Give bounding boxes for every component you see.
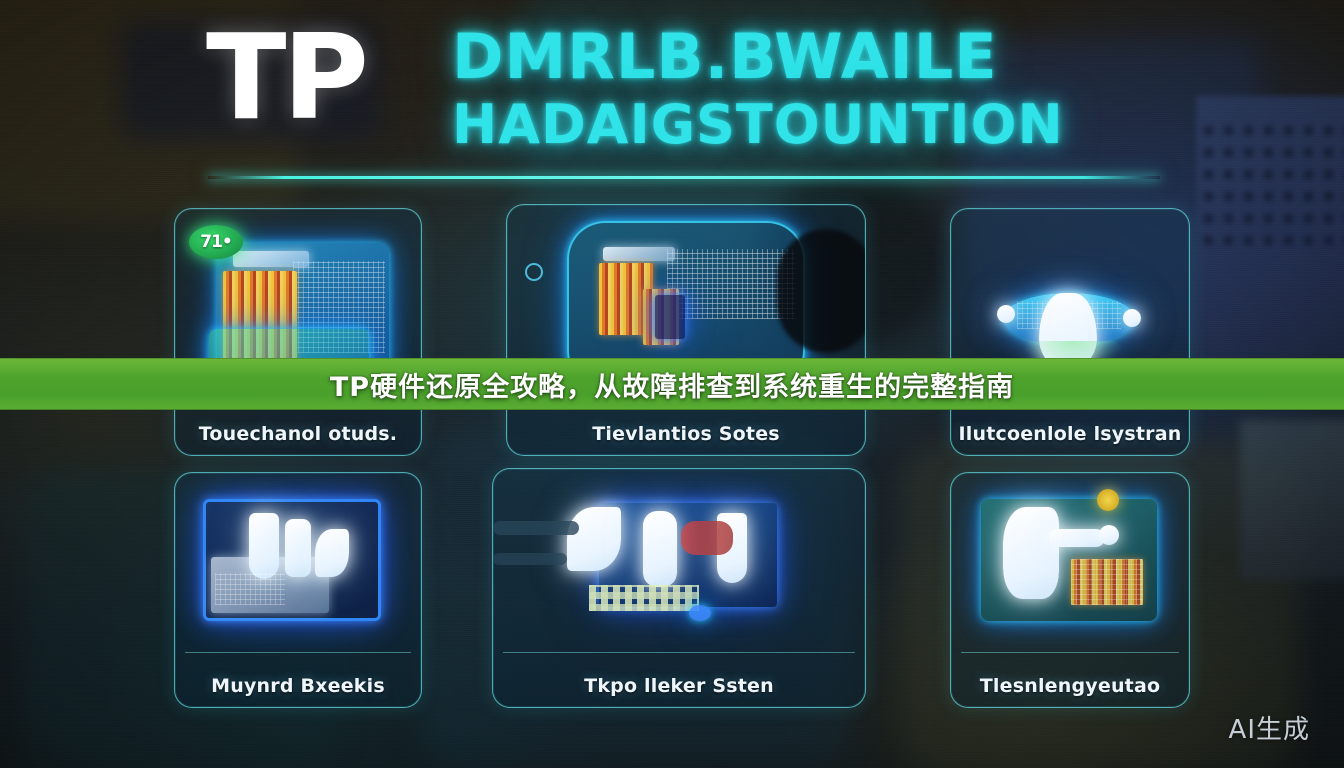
card-caption: Touechanol otuds.	[175, 423, 421, 445]
title-block: DMRLB.BWAILE HADAIGSTOUNTION	[452, 26, 1064, 152]
caption-divider	[503, 652, 855, 653]
caption-divider	[961, 652, 1179, 653]
neon-motherboard-thumbnail	[175, 473, 421, 651]
headline-banner: TP硬件还原全攻略，从故障排查到系统重生的完整指南	[0, 358, 1344, 410]
title-line-2: HADAIGSTOUNTION	[452, 98, 1064, 152]
card-caption: Tievlantios Sotes	[507, 423, 865, 445]
logo-text: TP	[206, 18, 365, 136]
ai-generated-watermark: AI生成	[1229, 709, 1310, 746]
card-grid: 71• Touechanol otuds.	[168, 200, 1192, 720]
caption-divider	[185, 652, 411, 653]
card-caption: Tlesnlengyeutao	[951, 675, 1189, 697]
card-caption: Tkpo lleker Ssten	[493, 675, 865, 697]
card-ilutcoenlole-lsystran[interactable]: Ilutcoenlole lsystran	[950, 208, 1190, 456]
status-badge-label: 71•	[200, 232, 232, 252]
card-touechanol-otuds[interactable]: 71• Touechanol otuds.	[174, 208, 422, 456]
card-caption: Muynrd Bxeekis	[175, 675, 421, 697]
title-line-1: DMRLB.BWAILE	[452, 26, 1064, 88]
title-underline-divider	[208, 176, 1160, 179]
component-assembly-thumbnail	[951, 473, 1189, 651]
liquid-cooling-thumbnail	[493, 469, 865, 651]
card-caption: Ilutcoenlole lsystran	[951, 423, 1189, 445]
card-tlesnlengyeutao[interactable]: Tlesnlengyeutao	[950, 472, 1190, 708]
card-tievlantios-sotes[interactable]: Tievlantios Sotes	[506, 204, 866, 456]
status-badge: 71•	[189, 225, 243, 259]
headline-text: TP硬件还原全攻略，从故障排查到系统重生的完整指南	[330, 365, 1014, 404]
card-tkpo-lleker-ssten[interactable]: Tkpo lleker Ssten	[492, 468, 866, 708]
poster-header: TP DMRLB.BWAILE HADAIGSTOUNTION	[0, 0, 1344, 190]
card-muynrd-bxeekis[interactable]: Muynrd Bxeekis	[174, 472, 422, 708]
poster-canvas: TP DMRLB.BWAILE HADAIGSTOUNTION 71• Toue…	[0, 0, 1344, 768]
